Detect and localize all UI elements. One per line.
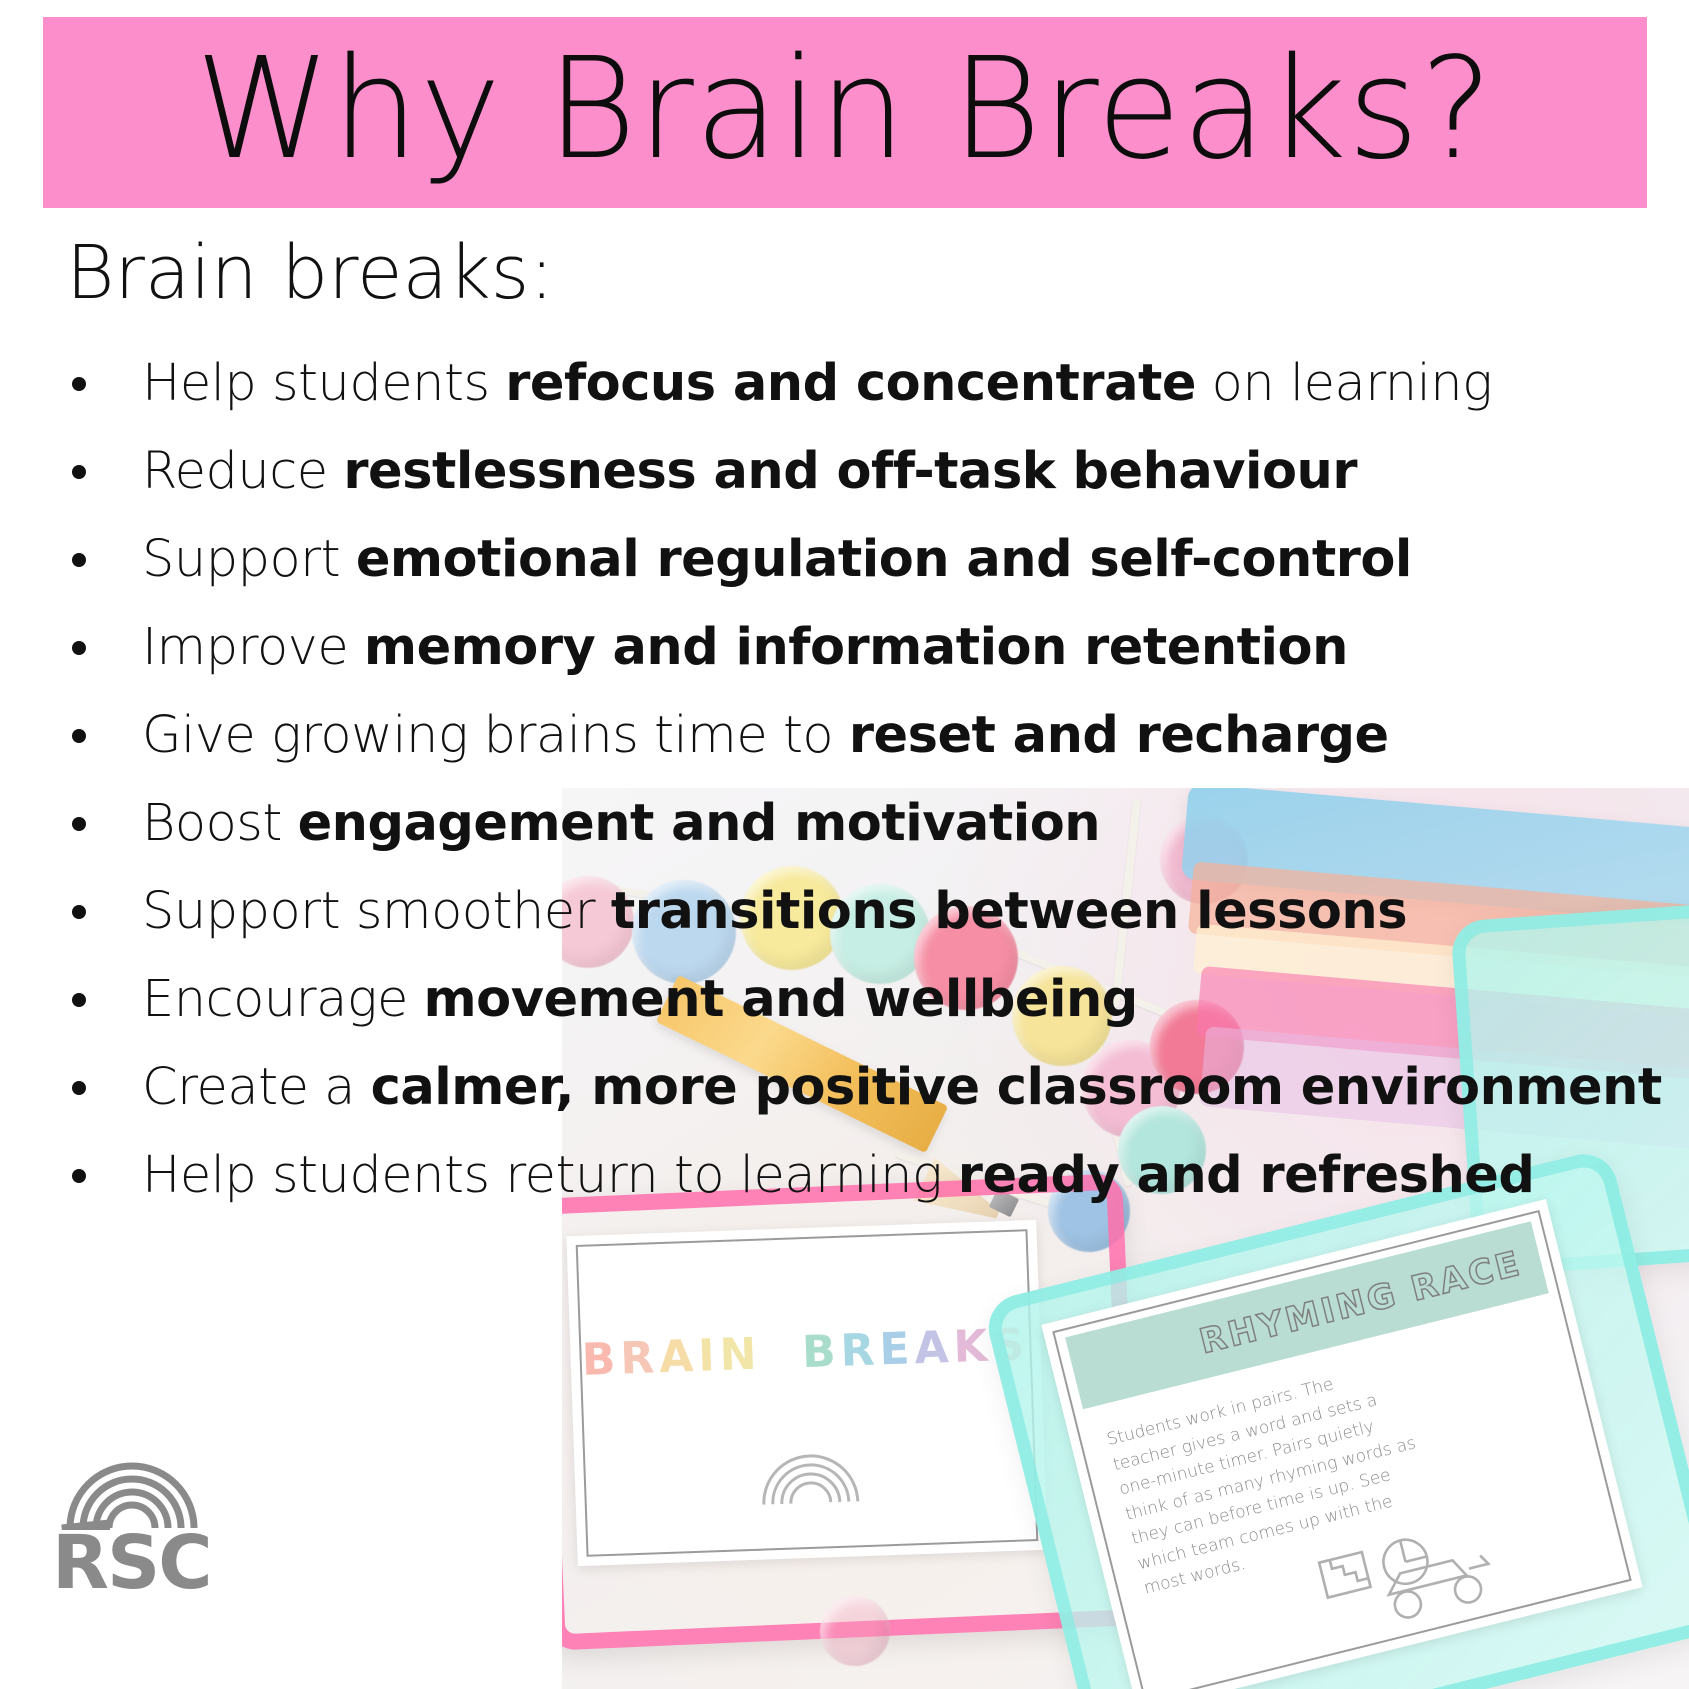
bullet-dot-icon (72, 905, 86, 919)
brain-breaks-card: BRAIN BREAKS (566, 1220, 1047, 1566)
list-item-lead: Help students (142, 354, 505, 413)
list-item-lead: Reduce (142, 442, 343, 501)
list-item-tail: on learning (1196, 354, 1492, 413)
list-item: Help students return to learning ready a… (60, 1132, 1660, 1220)
list-item: Boost engagement and motivation (60, 780, 1660, 868)
page-title: Why Brain Breaks? (196, 40, 1495, 180)
list-item: Create a calmer, more positive classroom… (60, 1044, 1660, 1132)
list-item-lead: Boost (142, 794, 298, 853)
list-item-emphasis: refocus and concentrate (505, 354, 1196, 413)
list-item-lead: Support (142, 530, 356, 589)
card-border (576, 1229, 1039, 1557)
bullet-dot-icon (72, 1081, 86, 1095)
list-item-lead: Support smoother (142, 882, 611, 941)
list-item-lead: Give growing brains time to (142, 706, 849, 765)
list-item-text: Boost engagement and motivation (142, 797, 1100, 851)
rsc-logo: RSC (52, 1418, 212, 1618)
bullet-dot-icon (72, 1169, 86, 1183)
bullet-dot-icon (72, 465, 86, 479)
list-item-lead: Improve (142, 618, 364, 677)
list-item-lead: Create a (142, 1058, 371, 1117)
list-item-emphasis: movement and wellbeing (424, 970, 1138, 1029)
list-item-text: Encourage movement and wellbeing (142, 973, 1138, 1027)
bullet-dot-icon (72, 817, 86, 831)
list-item: Encourage movement and wellbeing (60, 956, 1660, 1044)
list-item-text: Create a calmer, more positive classroom… (142, 1061, 1662, 1115)
list-item: Help students refocus and concentrate on… (60, 340, 1660, 428)
rainbow-arch-icon (754, 1435, 866, 1507)
list-item-text: Support emotional regulation and self-co… (142, 533, 1412, 587)
list-item-lead: Help students return to learning (142, 1146, 958, 1205)
list-item-emphasis: ready and refreshed (958, 1146, 1535, 1205)
list-item-emphasis: restlessness and off-task behaviour (343, 442, 1357, 501)
list-item-text: Help students return to learning ready a… (142, 1149, 1534, 1203)
list-item-emphasis: emotional regulation and self-control (356, 530, 1412, 589)
list-item-text: Help students refocus and concentrate on… (142, 357, 1492, 411)
rsc-logo-text: RSC (52, 1526, 212, 1600)
list-item: Improve memory and information retention (60, 604, 1660, 692)
list-item-emphasis: engagement and motivation (298, 794, 1100, 853)
list-item-text: Support smoother transitions between les… (142, 885, 1407, 939)
list-item: Support smoother transitions between les… (60, 868, 1660, 956)
list-item-lead: Encourage (142, 970, 424, 1029)
bullet-dot-icon (72, 729, 86, 743)
pom-pom (820, 1596, 890, 1666)
bullet-dot-icon (72, 377, 86, 391)
list-item-emphasis: memory and information retention (364, 618, 1348, 677)
rainbow-arch-icon (58, 1418, 218, 1530)
list-item-text: Give growing brains time to reset and re… (142, 709, 1389, 763)
benefits-list: Help students refocus and concentrate on… (60, 340, 1660, 1220)
list-item-emphasis: transitions between lessons (611, 882, 1407, 941)
subheading: Brain breaks: (66, 236, 554, 310)
list-item: Give growing brains time to reset and re… (60, 692, 1660, 780)
list-item: Support emotional regulation and self-co… (60, 516, 1660, 604)
bullet-dot-icon (72, 553, 86, 567)
list-item-text: Reduce restlessness and off-task behavio… (142, 445, 1357, 499)
list-item-emphasis: calmer, more positive classroom environm… (371, 1058, 1662, 1117)
poster-canvas: Why Brain Breaks? Brain breaks: (0, 0, 1689, 1689)
header-banner: Why Brain Breaks? (43, 17, 1647, 208)
list-item-emphasis: reset and recharge (849, 706, 1389, 765)
list-item-text: Improve memory and information retention (142, 621, 1348, 675)
bullet-dot-icon (72, 993, 86, 1007)
list-item: Reduce restlessness and off-task behavio… (60, 428, 1660, 516)
bullet-dot-icon (72, 641, 86, 655)
